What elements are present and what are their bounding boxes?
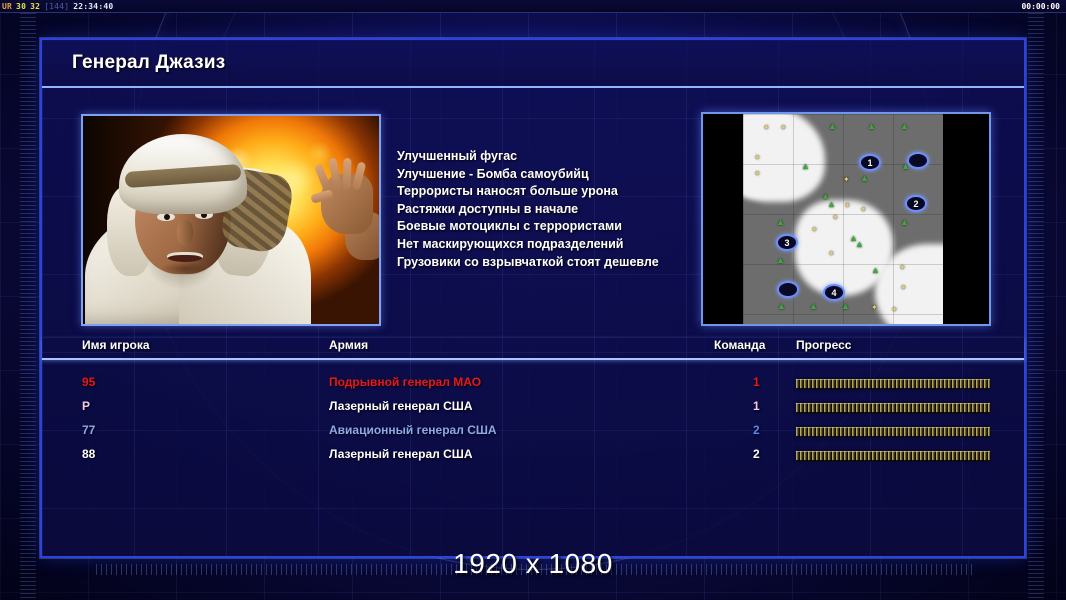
window-titlebar: Генерал Джазиз: [42, 40, 1024, 88]
mouth: [167, 252, 203, 262]
table-header-row: Имя игрока Армия Команда Прогресс: [42, 338, 1024, 360]
progress-bar: [796, 427, 990, 437]
resource-star-icon: ✦: [844, 202, 851, 210]
description-line: Террористы наносят больше урона: [397, 183, 727, 201]
resource-star-icon: ✦: [843, 176, 850, 184]
player-table: Имя игрока Армия Команда Прогресс 95 Под…: [42, 338, 1024, 468]
status-value-1: 30: [14, 2, 28, 11]
player-name: P: [82, 399, 90, 413]
resource-star-icon: ✦: [860, 206, 867, 214]
resource-star-icon: ✦: [871, 304, 878, 312]
player-name: 95: [82, 375, 95, 389]
map-preview[interactable]: ✦ ✦ ✦ ✦ ✦ ✦ ✦ ✦ ✦ ✦ ✦ ✦ ✦ ✦ ▲ ▲ ▲ ▲ ▲ ▲: [701, 112, 991, 326]
status-bracket: [144]: [42, 2, 71, 11]
player-team: 1: [753, 399, 760, 413]
start-position-empty[interactable]: [777, 281, 799, 298]
player-team: 2: [753, 447, 760, 461]
tree-icon: ▲: [900, 122, 909, 131]
description-line: Нет маскирующихся подразделений: [397, 236, 727, 254]
description-line: Грузовики со взрывчаткой стоят дешевле: [397, 254, 727, 272]
map-terrain: ✦ ✦ ✦ ✦ ✦ ✦ ✦ ✦ ✦ ✦ ✦ ✦ ✦ ✦ ▲ ▲ ▲ ▲ ▲ ▲: [743, 114, 943, 324]
progress-bar: [796, 451, 990, 461]
table-row[interactable]: 88 Лазерный генерал США 2: [42, 444, 1024, 468]
start-position-4[interactable]: 4: [823, 284, 845, 301]
tree-icon: ▲: [841, 302, 850, 311]
resource-star-icon: ✦: [832, 214, 839, 222]
description-line: Растяжки доступны в начале: [397, 201, 727, 219]
tree-icon: ▲: [855, 240, 864, 249]
player-army: Лазерный генерал США: [329, 447, 473, 461]
tree-icon: ▲: [900, 218, 909, 227]
status-tag: UR: [0, 2, 14, 11]
column-header-progress: Прогресс: [796, 338, 851, 352]
top-status-bar: UR 30 32 [144] 22:34:40 00:00:00: [0, 0, 1066, 13]
chin-shading: [161, 262, 209, 276]
tree-icon: ▲: [809, 302, 818, 311]
general-portrait: [81, 114, 381, 326]
tree-icon: ▲: [867, 122, 876, 131]
resource-star-icon: ✦: [891, 306, 898, 314]
tree-icon: ▲: [860, 174, 869, 183]
resource-star-icon: ✦: [763, 124, 770, 132]
tree-icon: ▲: [871, 266, 880, 275]
table-row[interactable]: 77 Авиационный генерал США 2: [42, 420, 1024, 444]
resource-star-icon: ✦: [900, 284, 907, 292]
status-time: 22:34:40: [71, 2, 115, 11]
start-position-2[interactable]: 2: [905, 195, 927, 212]
column-header-army: Армия: [329, 338, 368, 352]
progress-bar: [796, 379, 990, 389]
status-value-2: 32: [28, 2, 42, 11]
page-title: Генерал Джазиз: [72, 52, 225, 74]
start-position-empty[interactable]: [907, 152, 929, 169]
resolution-label: 1920 x 1080: [0, 548, 1066, 580]
tree-icon: ▲: [801, 162, 810, 171]
player-team: 2: [753, 423, 760, 437]
status-clock: 00:00:00: [1021, 2, 1066, 11]
tree-icon: ▲: [828, 122, 837, 131]
tree-icon: ▲: [776, 256, 785, 265]
player-army: Авиационный генерал США: [329, 423, 497, 437]
general-info-window: Генерал Джазиз: [40, 38, 1026, 558]
player-army: Лазерный генерал США: [329, 399, 473, 413]
table-row[interactable]: 95 Подрывной генерал МАО 1: [42, 372, 1024, 396]
general-description-list: Улучшенный фугас Улучшение - Бомба самоу…: [397, 148, 727, 271]
player-team: 1: [753, 375, 760, 389]
description-line: Улучшение - Бомба самоубийц: [397, 166, 727, 184]
pupil-left: [164, 214, 170, 220]
resource-star-icon: ✦: [828, 250, 835, 258]
tree-icon: ▲: [776, 218, 785, 227]
column-header-name: Имя игрока: [82, 338, 150, 352]
portrait-image: [83, 116, 379, 324]
ruler-left: [20, 13, 36, 600]
player-name: 88: [82, 447, 95, 461]
player-army: Подрывной генерал МАО: [329, 375, 481, 389]
resource-star-icon: ✦: [780, 124, 787, 132]
resource-star-icon: ✦: [754, 170, 761, 178]
start-position-3[interactable]: 3: [776, 234, 798, 251]
upper-content: Улучшенный фугас Улучшение - Бомба самоу…: [42, 90, 1024, 330]
resource-star-icon: ✦: [811, 226, 818, 234]
description-line: Улучшенный фугас: [397, 148, 727, 166]
nose: [177, 220, 193, 246]
tree-icon: ▲: [827, 200, 836, 209]
progress-bar: [796, 403, 990, 413]
table-row[interactable]: P Лазерный генерал США 1: [42, 396, 1024, 420]
description-line: Боевые мотоциклы с террористами: [397, 218, 727, 236]
column-header-team: Команда: [714, 338, 765, 352]
player-name: 77: [82, 423, 95, 437]
tree-icon: ▲: [777, 302, 786, 311]
resource-star-icon: ✦: [899, 264, 906, 272]
finger-3: [342, 158, 351, 190]
ruler-right: [1028, 13, 1044, 600]
resource-star-icon: ✦: [754, 154, 761, 162]
start-position-1[interactable]: 1: [859, 154, 881, 171]
